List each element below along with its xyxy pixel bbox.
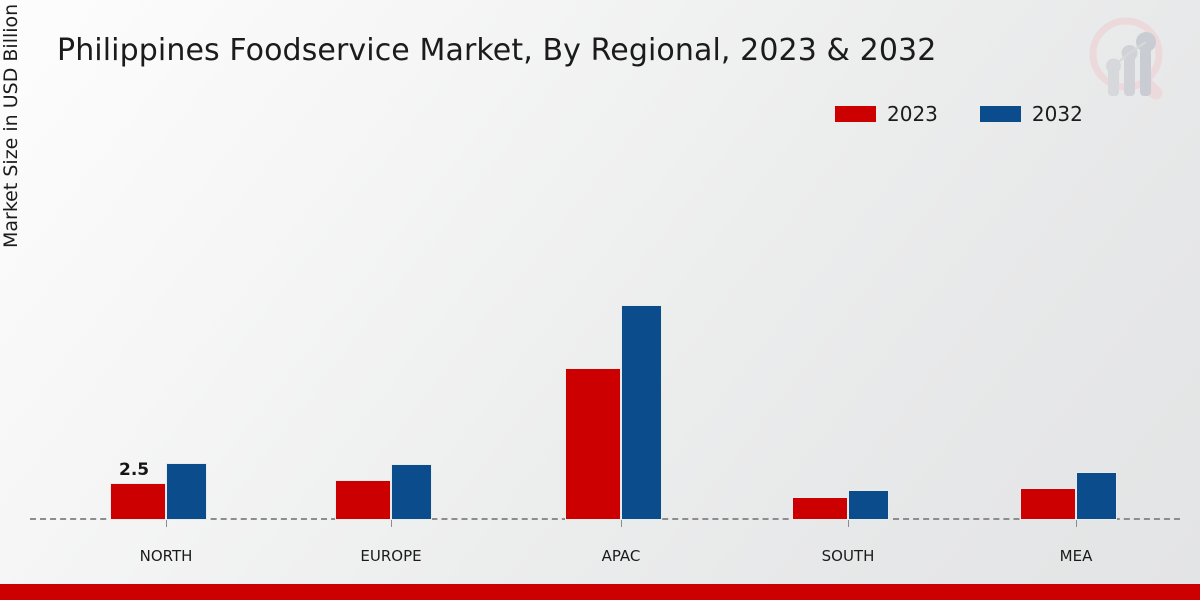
legend-swatch-2023 xyxy=(835,106,876,122)
x-tick-north-america xyxy=(166,520,167,527)
plot-area: 2.5 xyxy=(30,130,1180,520)
x-label-mea-line1: MEA xyxy=(1060,547,1093,565)
x-label-south-america-line1: SOUTH xyxy=(822,547,875,565)
chart-figure: Philippines Foodservice Market, By Regio… xyxy=(0,0,1200,600)
x-label-europe-line1: EUROPE xyxy=(360,547,421,565)
legend-swatch-2032 xyxy=(980,106,1021,122)
x-label-europe: EUROPE xyxy=(321,528,461,566)
page-title: Philippines Foodservice Market, By Regio… xyxy=(57,33,936,68)
bar-2023-apac[interactable] xyxy=(565,368,621,520)
x-tick-apac xyxy=(621,520,622,527)
bar-group-north-america: 2.5 xyxy=(110,130,206,520)
bar-2032-south-america[interactable] xyxy=(848,490,889,520)
bottom-accent-band xyxy=(0,584,1200,600)
bar-value-label-north-america-2023: 2.5 xyxy=(119,460,149,480)
legend-item-2032[interactable]: 2032 xyxy=(980,104,1083,124)
x-label-mea: MEA xyxy=(1006,528,1146,566)
bar-2023-south-america[interactable] xyxy=(792,497,848,520)
y-axis-title: Market Size in USD Billion xyxy=(0,0,22,248)
x-tick-europe xyxy=(391,520,392,527)
x-tick-mea xyxy=(1076,520,1077,527)
bar-2032-apac[interactable] xyxy=(621,305,662,520)
x-label-north-america-line1: NORTH xyxy=(140,547,193,565)
bar-2023-mea[interactable] xyxy=(1020,488,1076,520)
bar-2032-mea[interactable] xyxy=(1076,472,1117,520)
bar-2023-north-america[interactable] xyxy=(110,483,166,520)
bar-group-mea xyxy=(1020,130,1116,520)
chart-legend: 2023 2032 xyxy=(835,104,1083,124)
legend-label-2023: 2023 xyxy=(887,104,938,124)
legend-label-2032: 2032 xyxy=(1032,104,1083,124)
x-tick-south-america xyxy=(848,520,849,527)
x-label-apac: APAC xyxy=(551,528,691,566)
bar-group-south-america xyxy=(792,130,888,520)
bar-2023-europe[interactable] xyxy=(335,480,391,520)
bar-group-europe xyxy=(335,130,431,520)
bar-2032-north-america[interactable] xyxy=(166,463,207,520)
x-label-apac-line1: APAC xyxy=(602,547,641,565)
bar-2032-europe[interactable] xyxy=(391,464,432,520)
bar-group-apac xyxy=(565,130,661,520)
legend-item-2023[interactable]: 2023 xyxy=(835,104,938,124)
watermark-logo-icon xyxy=(1082,10,1178,106)
